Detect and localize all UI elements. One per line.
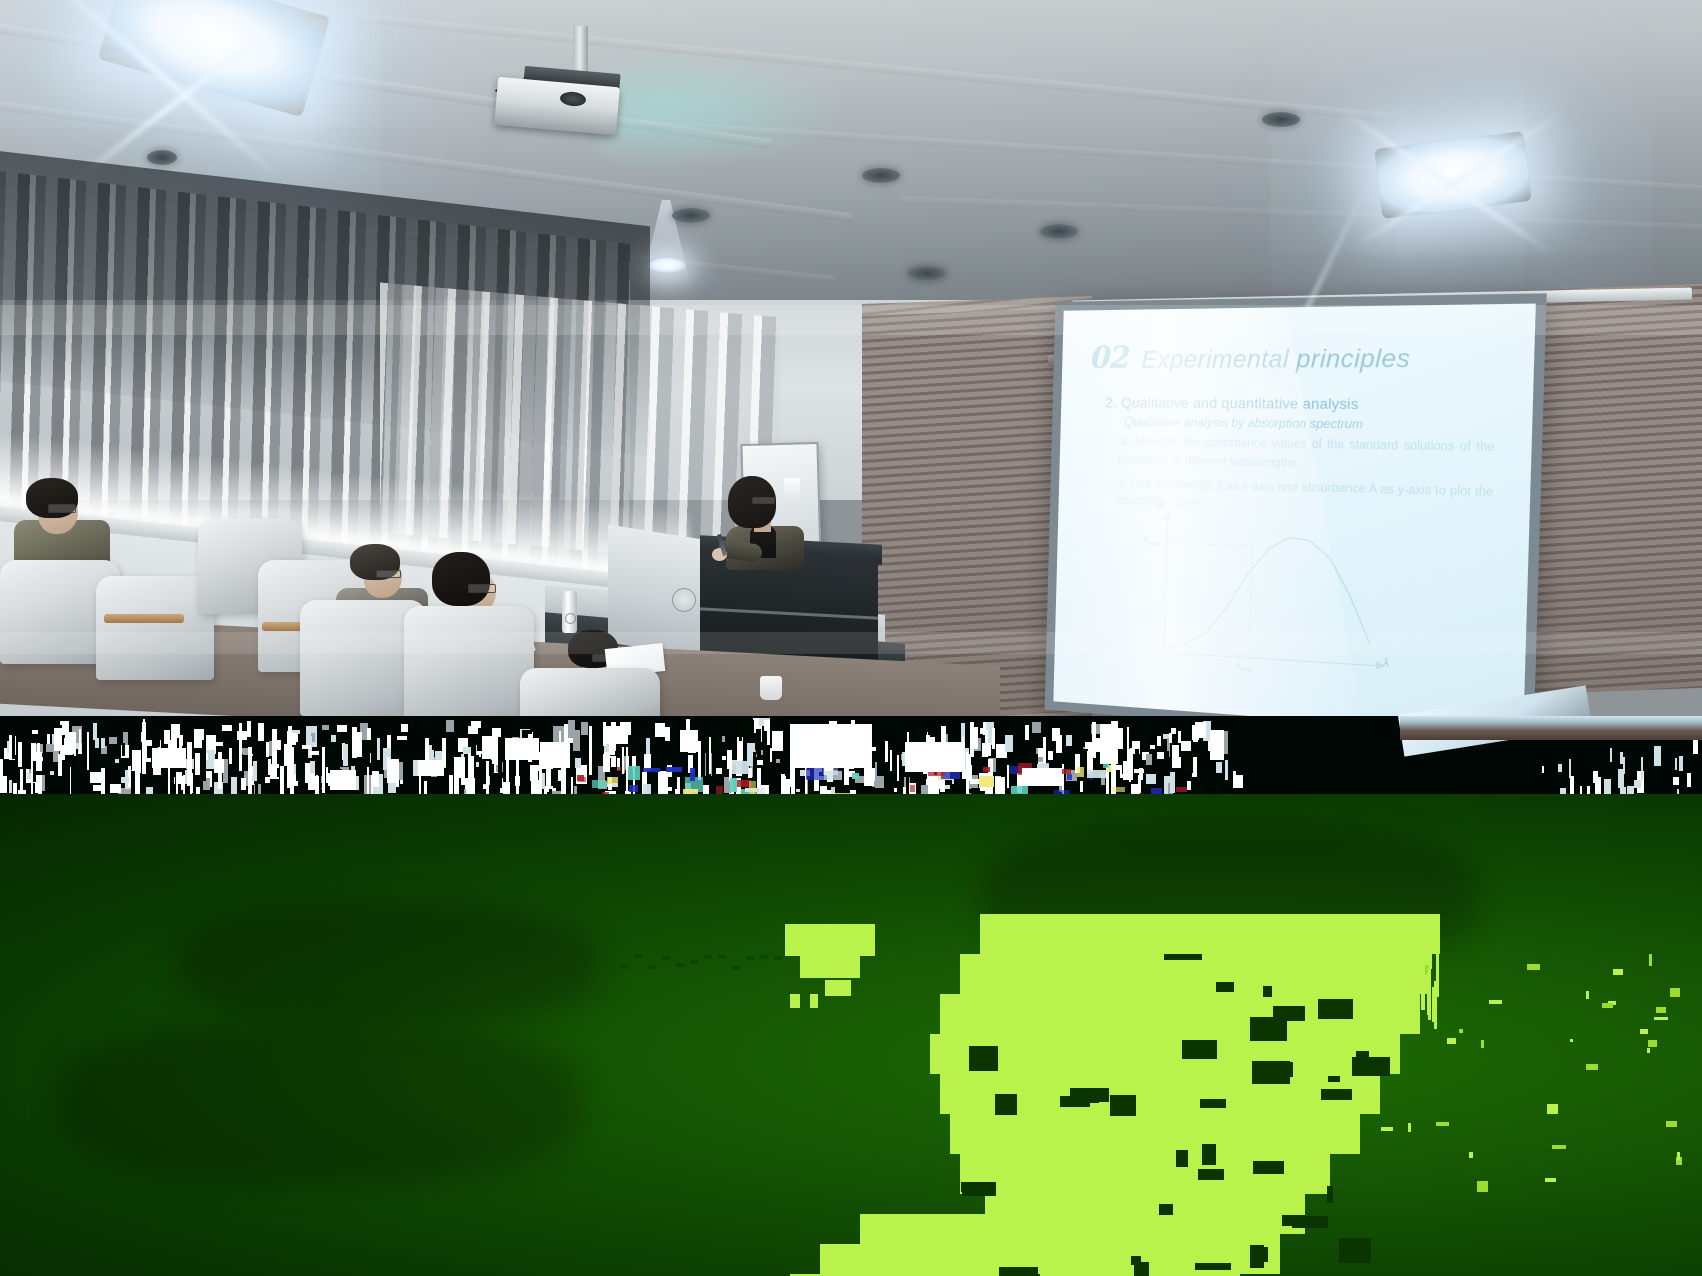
lime-speck <box>1381 1127 1393 1131</box>
noise-block <box>1127 727 1129 764</box>
lime-macroblock <box>810 994 818 1008</box>
noise-block <box>1610 748 1612 762</box>
noise-block <box>498 737 502 788</box>
noise-block <box>110 784 121 793</box>
noise-block <box>1142 741 1146 751</box>
lime-speck <box>1670 988 1680 997</box>
noise-block <box>1178 731 1181 743</box>
y-axis-label: A <box>1157 500 1165 513</box>
macroblock-hole <box>1216 982 1234 992</box>
noise-block <box>1061 720 1067 735</box>
lime-macroblock <box>930 1034 1400 1074</box>
noise-block <box>98 718 103 722</box>
noise-block <box>966 752 969 798</box>
corruption-green-field <box>0 794 1702 1276</box>
noise-block <box>1134 769 1144 773</box>
lime-speck <box>1640 1029 1648 1034</box>
wall-strip-remnant <box>1400 716 1702 740</box>
macroblock-remnant <box>718 955 726 959</box>
noise-block <box>261 760 264 779</box>
noise-block <box>1181 741 1191 751</box>
noise-block <box>1169 733 1172 743</box>
lime-speck <box>1586 991 1589 999</box>
noise-block <box>78 754 83 767</box>
noise-block <box>1172 745 1179 763</box>
chroma-artifact <box>749 781 756 794</box>
noise-block <box>290 755 294 799</box>
lime-streak <box>1429 943 1432 969</box>
chroma-artifact <box>643 768 660 772</box>
noise-block <box>329 747 337 752</box>
noise-block <box>142 722 146 774</box>
slide-section: 2. Qualitative and quantitative analysis <box>1105 394 1503 413</box>
macroblock-hole <box>1352 1057 1390 1076</box>
noise-block <box>698 741 701 780</box>
noise-block <box>1135 749 1139 756</box>
macroblock-hole <box>1254 1247 1268 1262</box>
noise-block <box>157 722 160 747</box>
lime-speck <box>1545 1178 1556 1182</box>
slide-paragraph-1: ① Measure the absorbance values of the s… <box>1117 434 1502 478</box>
chroma-artifact <box>628 766 640 780</box>
noise-block <box>153 775 161 796</box>
noise-block <box>292 733 298 742</box>
noise-block <box>288 726 292 748</box>
noise-block <box>266 742 269 757</box>
noise-block <box>1170 772 1175 793</box>
y-max-label: Amax <box>1143 534 1161 548</box>
noise-block <box>85 726 91 730</box>
noise-block <box>121 777 129 783</box>
noise-block <box>665 727 670 741</box>
noise-block <box>1634 780 1641 788</box>
seat-armrest <box>104 614 184 623</box>
seat[interactable] <box>404 606 534 716</box>
macroblock-hole <box>1200 1099 1226 1108</box>
chroma-artifact <box>1062 769 1071 774</box>
noise-block <box>568 720 575 738</box>
noise-block <box>714 726 722 748</box>
lime-speck <box>1649 954 1652 966</box>
downlight-icon <box>1262 112 1300 127</box>
green-shade <box>180 904 600 1024</box>
noise-block <box>1231 741 1235 750</box>
macroblock-hole <box>1159 1204 1173 1215</box>
attendee-glasses-icon <box>376 570 401 578</box>
downlight-icon <box>862 168 900 183</box>
noise-block <box>897 755 899 781</box>
lime-streak <box>1404 970 1407 995</box>
noise-block <box>33 761 36 782</box>
lime-speck <box>1459 1029 1463 1033</box>
noise-block <box>54 728 62 751</box>
noise-block <box>1066 735 1072 746</box>
macroblock-remnant <box>760 955 768 959</box>
noise-block <box>1080 781 1083 792</box>
lime-macroblock <box>960 1154 1330 1194</box>
macroblock-hole <box>1110 1095 1136 1116</box>
noise-block <box>719 721 723 725</box>
noise-plateau <box>1100 724 1118 764</box>
noise-block <box>122 743 125 756</box>
chroma-artifact <box>1087 770 1106 778</box>
noise-plateau <box>1210 730 1224 760</box>
lime-macroblock <box>950 1114 1360 1154</box>
noise-plateau <box>905 742 965 772</box>
noise-plateau <box>152 748 186 768</box>
noise-block <box>716 768 722 774</box>
lime-speck <box>1656 1007 1666 1013</box>
lime-speck <box>1602 1003 1613 1008</box>
noise-block <box>337 725 347 732</box>
noise-block <box>71 766 76 797</box>
paper-cup <box>760 676 782 700</box>
macroblock-hole <box>1321 1089 1352 1100</box>
macroblock-hole <box>1318 999 1353 1019</box>
lime-speck <box>1477 1181 1488 1192</box>
lime-speck <box>1586 1064 1598 1070</box>
attendee-hair <box>432 552 490 606</box>
noise-block <box>265 777 270 783</box>
noise-block <box>247 721 251 737</box>
noise-block <box>47 734 50 744</box>
macroblock-remnant <box>634 954 642 958</box>
noise-block <box>310 761 315 773</box>
noise-block <box>1025 725 1029 740</box>
noise-block <box>377 738 380 760</box>
noise-block <box>753 752 756 779</box>
noise-block <box>241 778 246 790</box>
noise-block <box>331 735 336 742</box>
lime-macroblock <box>820 1244 1020 1276</box>
macroblock-remnant <box>690 960 698 964</box>
noise-block <box>396 783 399 787</box>
noise-block <box>1195 722 1206 738</box>
noise-block <box>776 759 780 763</box>
lecture-hall-photo: 02 Experimental principles 2. Qualitativ… <box>0 0 1702 716</box>
noise-block <box>1593 771 1598 783</box>
noise-block <box>640 737 644 772</box>
noise-block <box>302 745 311 749</box>
noise-block <box>449 775 453 795</box>
presenter <box>714 476 824 568</box>
noise-block <box>770 748 772 762</box>
noise-block <box>478 729 481 748</box>
noise-block <box>50 771 54 775</box>
noise-block <box>709 737 711 774</box>
noise-block <box>763 731 767 781</box>
slide-number: 02 <box>1091 340 1131 376</box>
lime-speck <box>1677 1152 1680 1160</box>
noise-block <box>1687 773 1691 787</box>
lime-streak <box>1417 1002 1420 1034</box>
noise-block <box>42 775 45 791</box>
slide-heading: Experimental principles <box>1141 344 1411 374</box>
projection-screen: 02 Experimental principles 2. Qualitativ… <box>1045 293 1547 716</box>
absorption-curve-chart: A Amax λ λmax <box>1128 509 1392 678</box>
macroblock-hole <box>1292 1216 1328 1228</box>
noise-block <box>1055 754 1061 759</box>
noise-block <box>1032 722 1041 733</box>
macroblock-hole <box>1328 1076 1340 1082</box>
noise-block <box>90 772 101 783</box>
noise-block <box>178 772 182 784</box>
noise-block <box>1187 781 1191 790</box>
chroma-artifact <box>979 776 994 787</box>
macroblock-remnant <box>746 956 754 960</box>
lime-speck <box>1447 1038 1456 1044</box>
noise-block <box>195 753 200 775</box>
noise-block <box>411 723 414 731</box>
noise-block <box>1542 766 1544 773</box>
chroma-artifact <box>910 785 915 792</box>
lime-speck <box>1527 964 1540 970</box>
noise-block <box>1048 751 1053 760</box>
noise-block <box>202 740 206 781</box>
noise-block <box>222 725 232 731</box>
noise-block <box>1558 764 1562 772</box>
lime-streak <box>1428 985 1431 1020</box>
noise-block <box>401 724 408 732</box>
noise-block <box>589 726 592 775</box>
noise-block <box>268 759 271 775</box>
macroblock-remnant <box>732 966 740 970</box>
noise-block <box>372 771 379 787</box>
noise-block <box>1146 728 1148 751</box>
noise-block <box>1654 746 1661 766</box>
downlight-icon <box>147 150 177 165</box>
podium-emblem <box>672 588 696 612</box>
macroblock-remnant <box>648 965 656 969</box>
lime-speck <box>1408 1123 1411 1132</box>
macroblock-hole <box>1202 1144 1216 1165</box>
chroma-artifact <box>730 778 737 792</box>
macroblock-hole <box>999 1267 1038 1276</box>
green-shade <box>60 1024 580 1184</box>
noise-block <box>603 754 610 772</box>
noise-block <box>425 718 436 725</box>
projector-pole <box>573 26 588 74</box>
noise-block <box>119 758 128 764</box>
noise-block <box>12 725 15 759</box>
chroma-artifact <box>592 780 606 788</box>
noise-block <box>64 738 68 748</box>
noise-plateau <box>1022 768 1062 786</box>
noise-block <box>1005 735 1013 752</box>
noise-block <box>18 742 22 767</box>
noise-block <box>1118 728 1123 749</box>
lime-streak <box>1411 948 1414 986</box>
noise-block <box>475 755 479 762</box>
lime-speck <box>1552 1145 1566 1149</box>
noise-block <box>87 732 89 770</box>
noise-block <box>387 757 390 783</box>
noise-block <box>772 731 783 751</box>
lime-macroblock <box>790 994 800 1008</box>
noise-block <box>58 754 62 776</box>
noise-block <box>218 752 222 789</box>
noise-block <box>9 780 12 793</box>
slide-subsection: Qualitative analysis by absorption spect… <box>1124 415 1502 434</box>
seat[interactable] <box>96 576 214 680</box>
noise-block <box>239 723 242 771</box>
chroma-artifact <box>824 771 842 780</box>
lime-speck <box>1469 1152 1473 1158</box>
noise-block <box>617 719 620 726</box>
macroblock-hole <box>1195 1263 1231 1270</box>
macroblock-remnant <box>774 956 782 960</box>
noise-block <box>213 742 223 746</box>
lime-macroblock <box>800 954 860 978</box>
noise-block <box>323 754 325 785</box>
chroma-artifact <box>983 767 990 772</box>
lime-speck <box>1547 1104 1558 1114</box>
noise-block <box>461 775 465 785</box>
macroblock-remnant <box>676 963 684 967</box>
noise-plateau <box>540 742 570 768</box>
lime-macroblock <box>825 980 851 996</box>
noise-block <box>1150 745 1155 749</box>
chroma-artifact <box>1112 787 1125 792</box>
lime-speck <box>1666 1121 1677 1127</box>
lime-macroblock <box>980 914 1440 954</box>
noise-block <box>229 748 232 764</box>
noise-block <box>99 728 101 759</box>
noise-block <box>652 732 654 772</box>
noise-block <box>1216 762 1222 773</box>
lime-macroblock <box>785 924 875 956</box>
noise-block <box>885 741 888 762</box>
absorption-curve-path <box>1163 515 1386 672</box>
lime-streak <box>1425 937 1428 958</box>
lime-speck <box>1647 1048 1650 1053</box>
noise-block <box>722 756 726 760</box>
presenter-glasses-icon <box>752 497 775 504</box>
lime-speck <box>1654 1017 1668 1020</box>
lime-speck <box>1613 969 1623 975</box>
noise-block <box>515 776 520 786</box>
lime-speck <box>1481 1040 1484 1048</box>
noise-block <box>482 736 492 759</box>
noise-block <box>894 788 897 792</box>
macroblock-hole <box>1164 954 1202 960</box>
noise-block <box>1052 728 1060 741</box>
lime-speck <box>1489 1000 1502 1004</box>
x-axis-label: λ <box>1383 657 1389 670</box>
noise-block <box>1186 752 1193 773</box>
lime-streak <box>1434 981 1437 1029</box>
noise-block <box>1164 751 1169 763</box>
noise-block <box>187 744 192 786</box>
noise-block <box>756 729 761 754</box>
macroblock-remnant <box>620 965 628 969</box>
noise-block <box>37 743 40 765</box>
downlight-icon <box>1040 224 1078 239</box>
macroblock-hole <box>995 1094 1017 1115</box>
lime-speck <box>1648 1040 1657 1047</box>
noise-block <box>655 723 665 737</box>
noise-block <box>739 731 742 741</box>
noise-block <box>986 743 991 756</box>
macroblock-hole <box>1252 1061 1290 1084</box>
noise-block <box>32 730 38 734</box>
noise-block <box>1693 740 1698 754</box>
chroma-artifact <box>852 773 859 779</box>
noise-block <box>1146 774 1156 784</box>
chroma-artifact <box>607 777 618 784</box>
noise-block <box>1092 722 1096 749</box>
noise-plateau <box>505 738 539 760</box>
noise-block <box>875 776 884 788</box>
attendee-glasses-icon <box>48 504 76 513</box>
lime-speck <box>1570 1039 1573 1042</box>
seat[interactable] <box>520 668 660 716</box>
noise-block <box>1679 756 1683 771</box>
noise-block <box>272 729 277 766</box>
chroma-artifact <box>732 761 749 774</box>
noise-block <box>900 723 905 740</box>
macroblock-hole <box>1198 1169 1224 1180</box>
macroblock-remnant <box>662 956 670 960</box>
noise-block <box>309 751 319 755</box>
noise-block <box>258 723 264 741</box>
screen-surface: 02 Experimental principles 2. Qualitativ… <box>1053 304 1535 716</box>
noise-block <box>248 747 252 776</box>
lime-streak <box>1418 940 1421 975</box>
noise-block <box>1675 758 1677 770</box>
attendee-glasses-icon <box>468 584 496 593</box>
chroma-artifact <box>1067 774 1072 780</box>
macroblock-hole <box>1134 1262 1149 1276</box>
noise-block <box>1146 754 1152 765</box>
noise-block <box>352 727 357 758</box>
macroblock-hole <box>969 1046 998 1071</box>
noise-plateau <box>680 730 698 752</box>
noise-block <box>884 723 895 730</box>
noise-block <box>575 758 581 768</box>
lime-macroblock <box>960 954 1430 994</box>
chroma-artifact <box>690 768 695 781</box>
noise-plateau <box>790 724 872 768</box>
noise-plateau <box>330 770 356 790</box>
noise-block <box>1157 736 1161 746</box>
noise-block <box>891 733 894 748</box>
noise-plateau <box>606 726 628 744</box>
noise-block <box>622 747 624 774</box>
noise-block <box>1641 757 1643 780</box>
noise-block <box>1673 777 1679 785</box>
noise-block <box>973 727 978 749</box>
chroma-artifact <box>629 785 638 792</box>
noise-block <box>1130 748 1133 775</box>
noise-block <box>397 736 407 740</box>
macroblock-hole <box>962 1182 996 1196</box>
noise-block <box>343 744 348 766</box>
noise-block <box>109 737 117 744</box>
lime-speck <box>1436 1122 1449 1126</box>
noise-block <box>1623 757 1625 774</box>
lime-macroblock <box>985 1194 1305 1234</box>
macroblock-hole <box>1084 1088 1109 1102</box>
macroblock-hole <box>1250 1017 1287 1041</box>
noise-block <box>164 730 170 744</box>
ceiling-beam <box>900 196 1702 233</box>
macroblock-remnant <box>704 955 712 959</box>
macroblock-hole <box>1253 1161 1284 1174</box>
noise-block <box>371 751 374 765</box>
noise-block <box>658 771 668 795</box>
noise-block <box>992 728 995 749</box>
